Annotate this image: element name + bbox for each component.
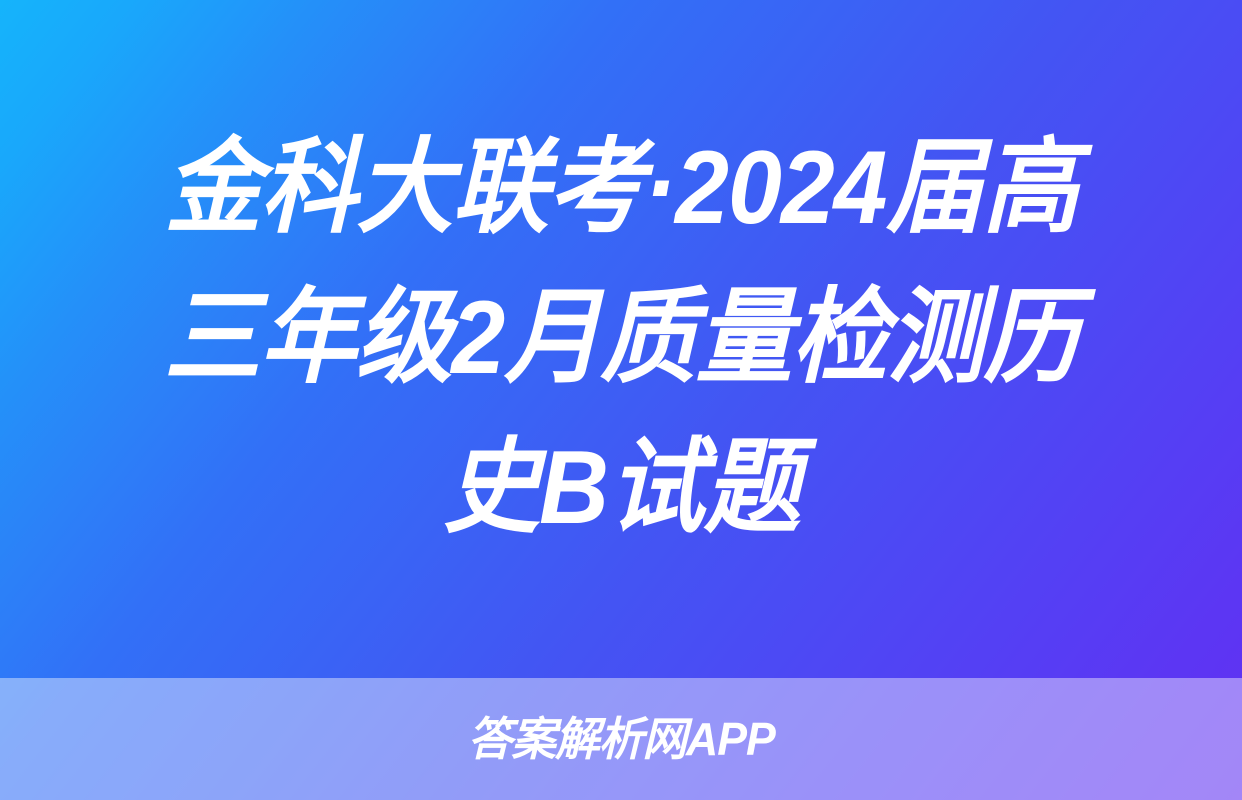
watermark-label: 答案解析网APP — [467, 716, 774, 762]
exam-title-poster: 金科大联考·2024届高三年级2月质量检测历史B试题 答案解析网APP — [0, 0, 1242, 800]
title-block: 金科大联考·2024届高三年级2月质量检测历史B试题 — [0, 0, 1242, 678]
page-title: 金科大联考·2024届高三年级2月质量检测历史B试题 — [121, 114, 1121, 563]
watermark-bar: 答案解析网APP — [0, 678, 1242, 800]
